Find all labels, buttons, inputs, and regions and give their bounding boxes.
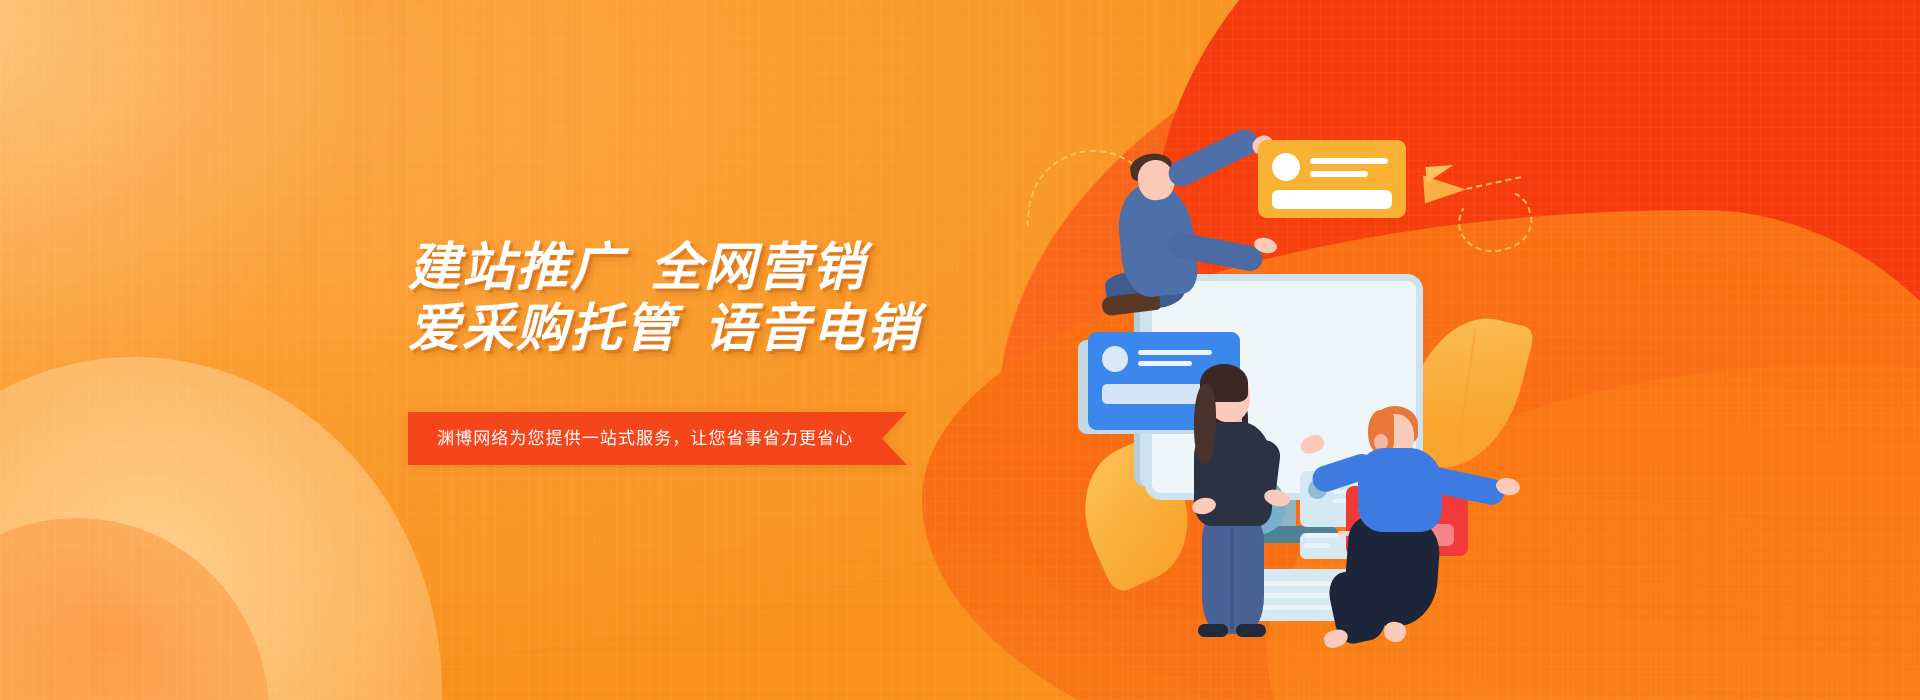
person-woman-hair-side	[1194, 384, 1216, 464]
hero-illustration	[1096, 118, 1516, 618]
card-text-line	[1138, 350, 1212, 355]
subtitle-text: 渊博网络为您提供一站式服务，让您省事省力更省心	[437, 430, 853, 447]
card-input-bar	[1272, 190, 1392, 209]
card-text-line	[1138, 361, 1192, 366]
headline-line-1-part-2: 全网营销	[650, 239, 866, 297]
banner-stage: 建站推广全网营销 爱采购托管语音电销 渊博网络为您提供一站式服务，让您省事省力更…	[0, 0, 1920, 700]
person-woman-shoe	[1198, 624, 1228, 637]
headline-line-2-part-1: 爱采购托管	[408, 300, 678, 358]
headline-line-2-part-2: 语音电销	[704, 300, 920, 358]
screen-text-line	[1304, 533, 1338, 538]
screen-text-line	[1304, 543, 1330, 548]
avatar	[1272, 153, 1300, 181]
person-woman-shoe	[1236, 624, 1266, 637]
subtitle-ribbon-shape: 渊博网络为您提供一站式服务，让您省事省力更省心	[408, 412, 907, 465]
card-text-line	[1310, 158, 1388, 164]
yellow-profile-card	[1258, 140, 1406, 218]
headline-line-2: 爱采购托管语音电销	[408, 299, 1048, 360]
headline-line-1-part-1: 建站推广	[408, 239, 624, 297]
person-woman-leg-divider	[1230, 528, 1234, 630]
headline-block: 建站推广全网营销 爱采购托管语音电销	[408, 238, 1048, 361]
card-text-line	[1310, 171, 1368, 177]
paper-plane-icon-highlight	[1425, 165, 1454, 183]
headline-line-1: 建站推广全网营销	[408, 238, 1048, 299]
avatar	[1102, 346, 1128, 372]
subtitle-ribbon: 渊博网络为您提供一站式服务，让您省事省力更省心	[408, 412, 907, 465]
person-man-reaching-arm-upper	[1164, 125, 1262, 190]
